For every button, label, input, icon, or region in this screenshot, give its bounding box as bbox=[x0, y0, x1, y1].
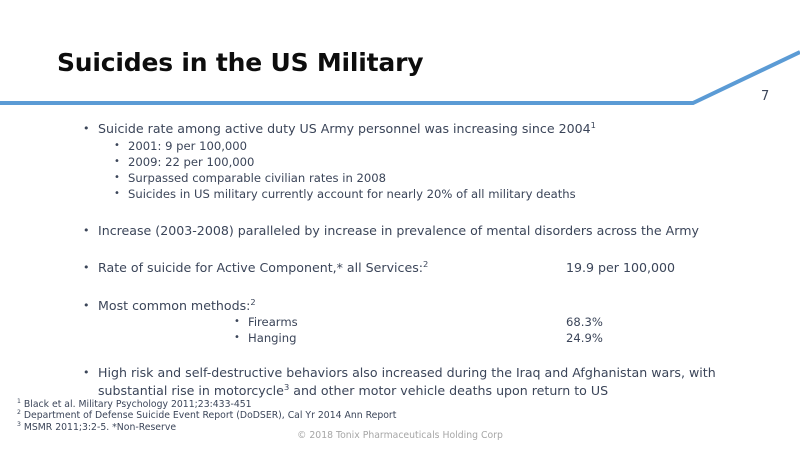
sub-bullet-label: Hanging bbox=[248, 330, 800, 346]
bullet-suicide-rate: • Suicide rate among active duty US Army… bbox=[0, 120, 800, 138]
bullet-text-main: Rate of suicide for Active Component,* a… bbox=[98, 260, 423, 275]
footnote-2: 2 Department of Defense Suicide Event Re… bbox=[17, 410, 396, 421]
row-method-firearms: • Firearms 68.3% bbox=[0, 314, 800, 330]
footnote-text: Black et al. Military Psychology 2011;23… bbox=[21, 399, 252, 410]
bullet-marker-icon: • bbox=[234, 330, 240, 346]
slide-body: • Suicide rate among active duty US Army… bbox=[0, 120, 800, 399]
bullet-mental-disorders: • Increase (2003-2008) paralleled by inc… bbox=[0, 222, 800, 240]
sub-bullet-label: Suicides in US military currently accoun… bbox=[128, 186, 800, 202]
spacer bbox=[0, 202, 800, 222]
bullet-marker-icon: • bbox=[83, 297, 90, 315]
sub-bullet-label: Firearms bbox=[248, 314, 800, 330]
spacer bbox=[0, 277, 800, 297]
bullet-text: Suicide rate among active duty US Army p… bbox=[98, 120, 800, 138]
sub-bullet-civilian-rates: • Surpassed comparable civilian rates in… bbox=[0, 170, 800, 186]
footnote-ref-2: 2 bbox=[423, 259, 428, 269]
spacer bbox=[0, 239, 800, 259]
sub-bullet-2009: • 2009: 22 per 100,000 bbox=[0, 154, 800, 170]
bullet-marker-icon: • bbox=[234, 314, 240, 330]
sub-bullet-firearms: • Firearms bbox=[0, 314, 800, 330]
bullet-text: Rate of suicide for Active Component,* a… bbox=[98, 259, 800, 277]
row-active-component-rate: • Rate of suicide for Active Component,*… bbox=[0, 259, 800, 277]
sub-bullet-label: Surpassed comparable civilian rates in 2… bbox=[128, 170, 800, 186]
page-number: 7 bbox=[761, 89, 769, 104]
bullet-text-main: Suicide rate among active duty US Army p… bbox=[98, 121, 591, 136]
bullet-text: Increase (2003-2008) paralleled by incre… bbox=[98, 222, 800, 240]
bullet-marker-icon: • bbox=[83, 259, 90, 277]
bullet-text-line1: High risk and self-destructive behaviors… bbox=[98, 365, 716, 380]
value-active-component-rate: 19.9 per 100,000 bbox=[566, 259, 675, 277]
sub-bullet-hanging: • Hanging bbox=[0, 330, 800, 346]
bullet-high-risk-behaviors: • High risk and self-destructive behavio… bbox=[0, 364, 800, 399]
bullet-active-component: • Rate of suicide for Active Component,*… bbox=[0, 259, 800, 277]
bullet-marker-icon: • bbox=[114, 138, 120, 154]
footnote-ref-1: 1 bbox=[591, 120, 596, 130]
bullet-marker-icon: • bbox=[83, 222, 90, 240]
bullet-marker-icon: • bbox=[114, 170, 120, 186]
bullet-text: High risk and self-destructive behaviors… bbox=[98, 364, 800, 399]
sub-bullet-2001: • 2001: 9 per 100,000 bbox=[0, 138, 800, 154]
copyright-notice: © 2018 Tonix Pharmaceuticals Holding Cor… bbox=[0, 430, 800, 441]
slide: Suicides in the US Military 7 • Suicide … bbox=[0, 0, 800, 449]
footnote-text: Department of Defense Suicide Event Repo… bbox=[21, 410, 397, 421]
bullet-marker-icon: • bbox=[114, 154, 120, 170]
bullet-marker-icon: • bbox=[83, 120, 90, 138]
footnote-ref-2: 2 bbox=[250, 296, 255, 306]
bullet-marker-icon: • bbox=[83, 364, 90, 382]
bullet-text-line3: and other motor vehicle deaths upon retu… bbox=[289, 383, 608, 398]
spacer bbox=[0, 346, 800, 364]
sub-bullet-label: 2009: 22 per 100,000 bbox=[128, 154, 800, 170]
footnotes: 1 Black et al. Military Psychology 2011;… bbox=[17, 399, 396, 433]
bullet-text: Most common methods:2 bbox=[98, 297, 800, 315]
bullet-text-line2: substantial rise in motorcycle bbox=[98, 383, 284, 398]
bullet-marker-icon: • bbox=[114, 186, 120, 202]
bullet-text-main: Most common methods: bbox=[98, 298, 250, 313]
sub-bullet-label: 2001: 9 per 100,000 bbox=[128, 138, 800, 154]
value-hanging-percent: 24.9% bbox=[566, 330, 603, 346]
footnote-1: 1 Black et al. Military Psychology 2011;… bbox=[17, 399, 396, 410]
value-firearms-percent: 68.3% bbox=[566, 314, 603, 330]
page-title: Suicides in the US Military bbox=[57, 48, 423, 77]
row-method-hanging: • Hanging 24.9% bbox=[0, 330, 800, 346]
sub-bullet-military-deaths: • Suicides in US military currently acco… bbox=[0, 186, 800, 202]
bullet-common-methods: • Most common methods:2 bbox=[0, 297, 800, 315]
